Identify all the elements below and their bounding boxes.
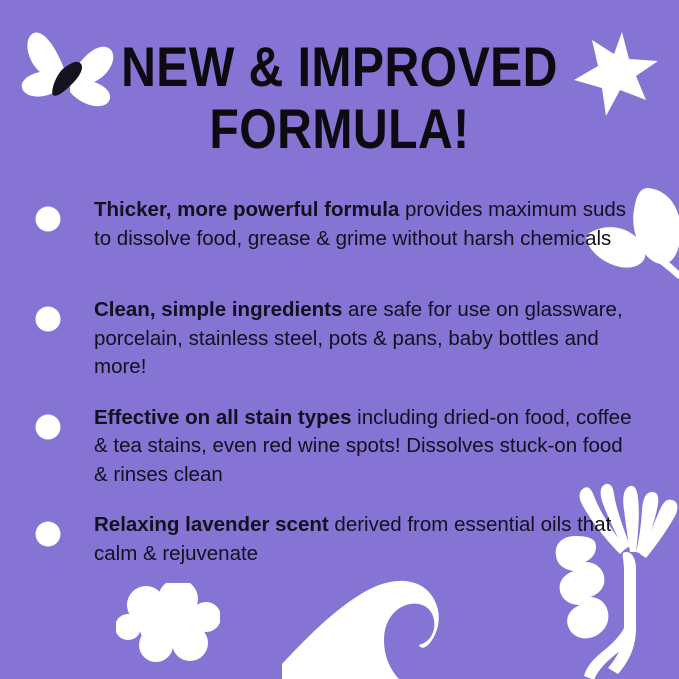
list-item-lead: Effective on all stain types bbox=[94, 406, 351, 429]
list-item: Relaxing lavender scent derived from ess… bbox=[32, 511, 632, 589]
list-item-text: Thicker, more powerful formula provides … bbox=[94, 196, 632, 253]
list-item: Thicker, more powerful formula provides … bbox=[32, 196, 632, 274]
list-item-text: Effective on all stain types including d… bbox=[94, 404, 632, 490]
headline-line-2: FORMULA! bbox=[48, 98, 632, 160]
list-item-lead: Relaxing lavender scent bbox=[94, 513, 329, 536]
blossom-icon bbox=[116, 583, 220, 663]
bubble-icon bbox=[34, 205, 62, 233]
bubble-icon bbox=[34, 413, 62, 441]
bubble-icon bbox=[34, 520, 62, 548]
list-item: Effective on all stain types including d… bbox=[32, 404, 632, 490]
list-item-lead: Thicker, more powerful formula bbox=[94, 198, 399, 221]
list-item: Clean, simple ingredients are safe for u… bbox=[32, 296, 632, 382]
list-item-text: Clean, simple ingredients are safe for u… bbox=[94, 296, 632, 382]
list-item-lead: Clean, simple ingredients bbox=[94, 298, 342, 321]
bubble-icon bbox=[34, 305, 62, 333]
list-item-text: Relaxing lavender scent derived from ess… bbox=[94, 511, 632, 568]
feature-list: Thicker, more powerful formula provides … bbox=[32, 196, 632, 589]
promo-poster: NEW & IMPROVED FORMULA! Thicker, more po… bbox=[0, 0, 679, 679]
page-title: NEW & IMPROVED FORMULA! bbox=[48, 36, 632, 160]
headline-line-1: NEW & IMPROVED bbox=[48, 36, 632, 98]
